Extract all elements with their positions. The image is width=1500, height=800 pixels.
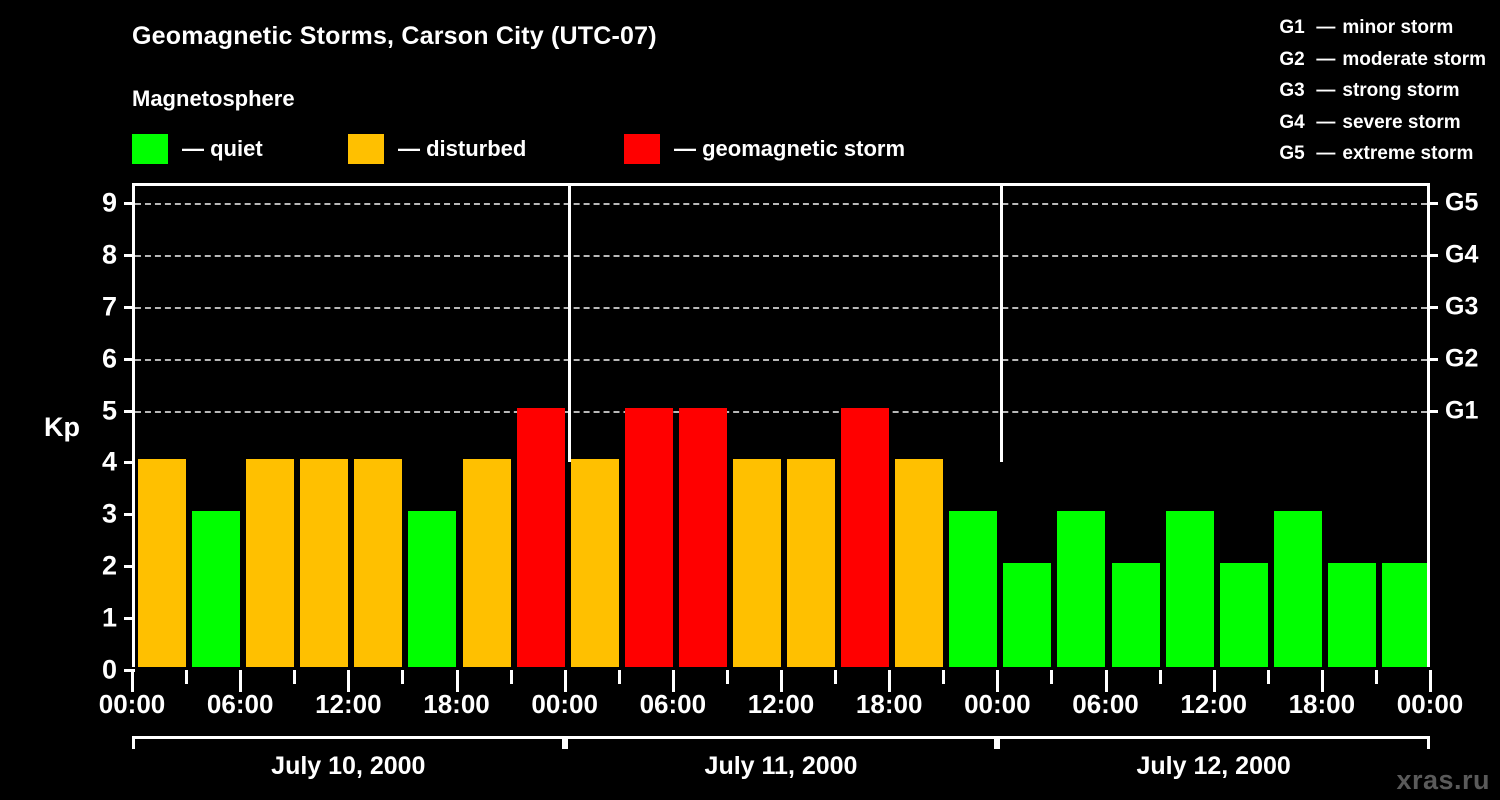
legend-label-geomagnetic-storm: — geomagnetic storm	[674, 138, 905, 160]
x-tick-9	[618, 670, 621, 684]
watermark: xras.ru	[1396, 765, 1490, 796]
g-tick-g5	[1427, 202, 1438, 205]
y-tick-4	[124, 461, 135, 464]
bar[interactable]	[300, 459, 348, 667]
y-tick-8	[124, 254, 135, 257]
y-tick-label-0: 0	[102, 657, 117, 684]
y-tick-1	[124, 617, 135, 620]
x-tick-label-4: 00:00	[531, 689, 598, 720]
bar[interactable]	[354, 459, 402, 667]
g-dash-icon: —	[1316, 107, 1335, 139]
legend-item-disturbed[interactable]: — disturbed	[348, 133, 526, 165]
g-axis-label-g2: G2	[1445, 346, 1478, 371]
x-tick-11	[726, 670, 729, 684]
g-code-g1: G1	[1279, 12, 1309, 44]
day-bracket-3	[997, 736, 1430, 749]
day-bracket-1	[132, 736, 565, 749]
bar[interactable]	[463, 459, 511, 667]
x-tick-13	[834, 670, 837, 684]
g-code-g2: G2	[1279, 44, 1309, 76]
bar[interactable]	[1112, 563, 1160, 667]
x-tick-3	[293, 670, 296, 684]
day-label-1: July 10, 2000	[271, 752, 425, 781]
g-desc-g2: moderate storm	[1342, 44, 1486, 76]
legend-swatch-geomagnetic-storm	[624, 134, 660, 164]
x-tick-label-1: 06:00	[207, 689, 274, 720]
bar[interactable]	[138, 459, 186, 667]
day-bracket-2	[565, 736, 998, 749]
x-tick-19	[1159, 670, 1162, 684]
x-tick-label-10: 12:00	[1180, 689, 1247, 720]
bar[interactable]	[1328, 563, 1376, 667]
g-axis-label-g5: G5	[1445, 191, 1478, 216]
day-label-3: July 12, 2000	[1137, 752, 1291, 781]
x-tick-label-12: 00:00	[1397, 689, 1464, 720]
y-tick-label-2: 2	[102, 553, 117, 580]
x-tick-label-2: 12:00	[315, 689, 382, 720]
x-tick-7	[510, 670, 513, 684]
bar[interactable]	[787, 459, 835, 667]
g-legend-row-g5: G5—extreme storm	[1279, 138, 1486, 170]
y-tick-9	[124, 202, 135, 205]
magnetosphere-legend-title: Magnetosphere	[132, 86, 295, 112]
bar[interactable]	[1166, 511, 1214, 667]
y-tick-label-8: 8	[102, 241, 117, 268]
x-tick-label-8: 00:00	[964, 689, 1031, 720]
g-tick-g1	[1427, 410, 1438, 413]
y-tick-5	[124, 410, 135, 413]
g-desc-g4: severe storm	[1342, 107, 1460, 139]
g-desc-g5: extreme storm	[1342, 138, 1473, 170]
x-tick-label-7: 18:00	[856, 689, 923, 720]
x-tick-23	[1375, 670, 1378, 684]
g-dash-icon: —	[1316, 138, 1335, 170]
y-axis-title: Kp	[44, 412, 80, 443]
y-tick-label-3: 3	[102, 501, 117, 528]
legend-swatch-quiet	[132, 134, 168, 164]
day-label-2: July 11, 2000	[705, 752, 858, 781]
y-tick-6	[124, 358, 135, 361]
bar[interactable]	[517, 408, 565, 667]
bar[interactable]	[841, 408, 889, 667]
g-dash-icon: —	[1316, 12, 1335, 44]
bar[interactable]	[625, 408, 673, 667]
g-tick-g2	[1427, 358, 1438, 361]
g-desc-g3: strong storm	[1342, 75, 1459, 107]
g-tick-g4	[1427, 254, 1438, 257]
x-tick-1	[185, 670, 188, 684]
bar[interactable]	[733, 459, 781, 667]
bar[interactable]	[246, 459, 294, 667]
legend-label-disturbed: — disturbed	[398, 138, 526, 160]
g-legend-row-g2: G2—moderate storm	[1279, 44, 1486, 76]
bar[interactable]	[679, 408, 727, 667]
g-dash-icon: —	[1316, 44, 1335, 76]
g-axis-label-g4: G4	[1445, 242, 1478, 267]
bar[interactable]	[1220, 563, 1268, 667]
g-legend-row-g3: G3—strong storm	[1279, 75, 1486, 107]
bar[interactable]	[1274, 511, 1322, 667]
x-tick-15	[942, 670, 945, 684]
y-tick-label-7: 7	[102, 293, 117, 320]
y-tick-label-6: 6	[102, 345, 117, 372]
y-tick-7	[124, 306, 135, 309]
legend-item-quiet[interactable]: — quiet	[132, 133, 263, 165]
g-code-g4: G4	[1279, 107, 1309, 139]
g-scale-legend: G1—minor stormG2—moderate stormG3—strong…	[1279, 12, 1486, 170]
legend-swatch-disturbed	[348, 134, 384, 164]
day-separator-2	[1000, 186, 1003, 462]
x-tick-label-11: 18:00	[1289, 689, 1356, 720]
day-separator-1	[568, 186, 571, 462]
y-tick-label-1: 1	[102, 605, 117, 632]
g-legend-row-g4: G4—severe storm	[1279, 107, 1486, 139]
g-code-g5: G5	[1279, 138, 1309, 170]
bar-series	[135, 186, 1427, 667]
legend-label-quiet: — quiet	[182, 138, 263, 160]
x-tick-label-0: 00:00	[99, 689, 166, 720]
legend-item-geomagnetic-storm[interactable]: — geomagnetic storm	[624, 133, 905, 165]
g-code-g3: G3	[1279, 75, 1309, 107]
plot-area: 0123456789 G1G2G3G4G5	[132, 183, 1430, 667]
y-tick-label-9: 9	[102, 190, 117, 217]
g-dash-icon: —	[1316, 75, 1335, 107]
y-tick-2	[124, 565, 135, 568]
x-tick-label-9: 06:00	[1072, 689, 1139, 720]
x-tick-5	[401, 670, 404, 684]
bar[interactable]	[895, 459, 943, 667]
x-tick-17	[1050, 670, 1053, 684]
g-tick-g3	[1427, 306, 1438, 309]
bar[interactable]	[408, 511, 456, 667]
x-tick-label-3: 18:00	[423, 689, 490, 720]
bar[interactable]	[1382, 563, 1427, 667]
page-title: Geomagnetic Storms, Carson City (UTC-07)	[132, 22, 657, 51]
y-tick-3	[124, 513, 135, 516]
bar[interactable]	[1003, 563, 1051, 667]
y-tick-label-4: 4	[102, 449, 117, 476]
bar[interactable]	[192, 511, 240, 667]
bar[interactable]	[571, 459, 619, 667]
chart-page: Geomagnetic Storms, Carson City (UTC-07)…	[0, 0, 1500, 800]
x-tick-21	[1267, 670, 1270, 684]
g-desc-g1: minor storm	[1342, 12, 1453, 44]
g-legend-row-g1: G1—minor storm	[1279, 12, 1486, 44]
g-axis-label-g1: G1	[1445, 398, 1478, 423]
bar[interactable]	[1057, 511, 1105, 667]
g-axis-label-g3: G3	[1445, 294, 1478, 319]
x-tick-label-5: 06:00	[640, 689, 707, 720]
bar[interactable]	[949, 511, 997, 667]
y-tick-label-5: 5	[102, 397, 117, 424]
x-tick-label-6: 12:00	[748, 689, 815, 720]
